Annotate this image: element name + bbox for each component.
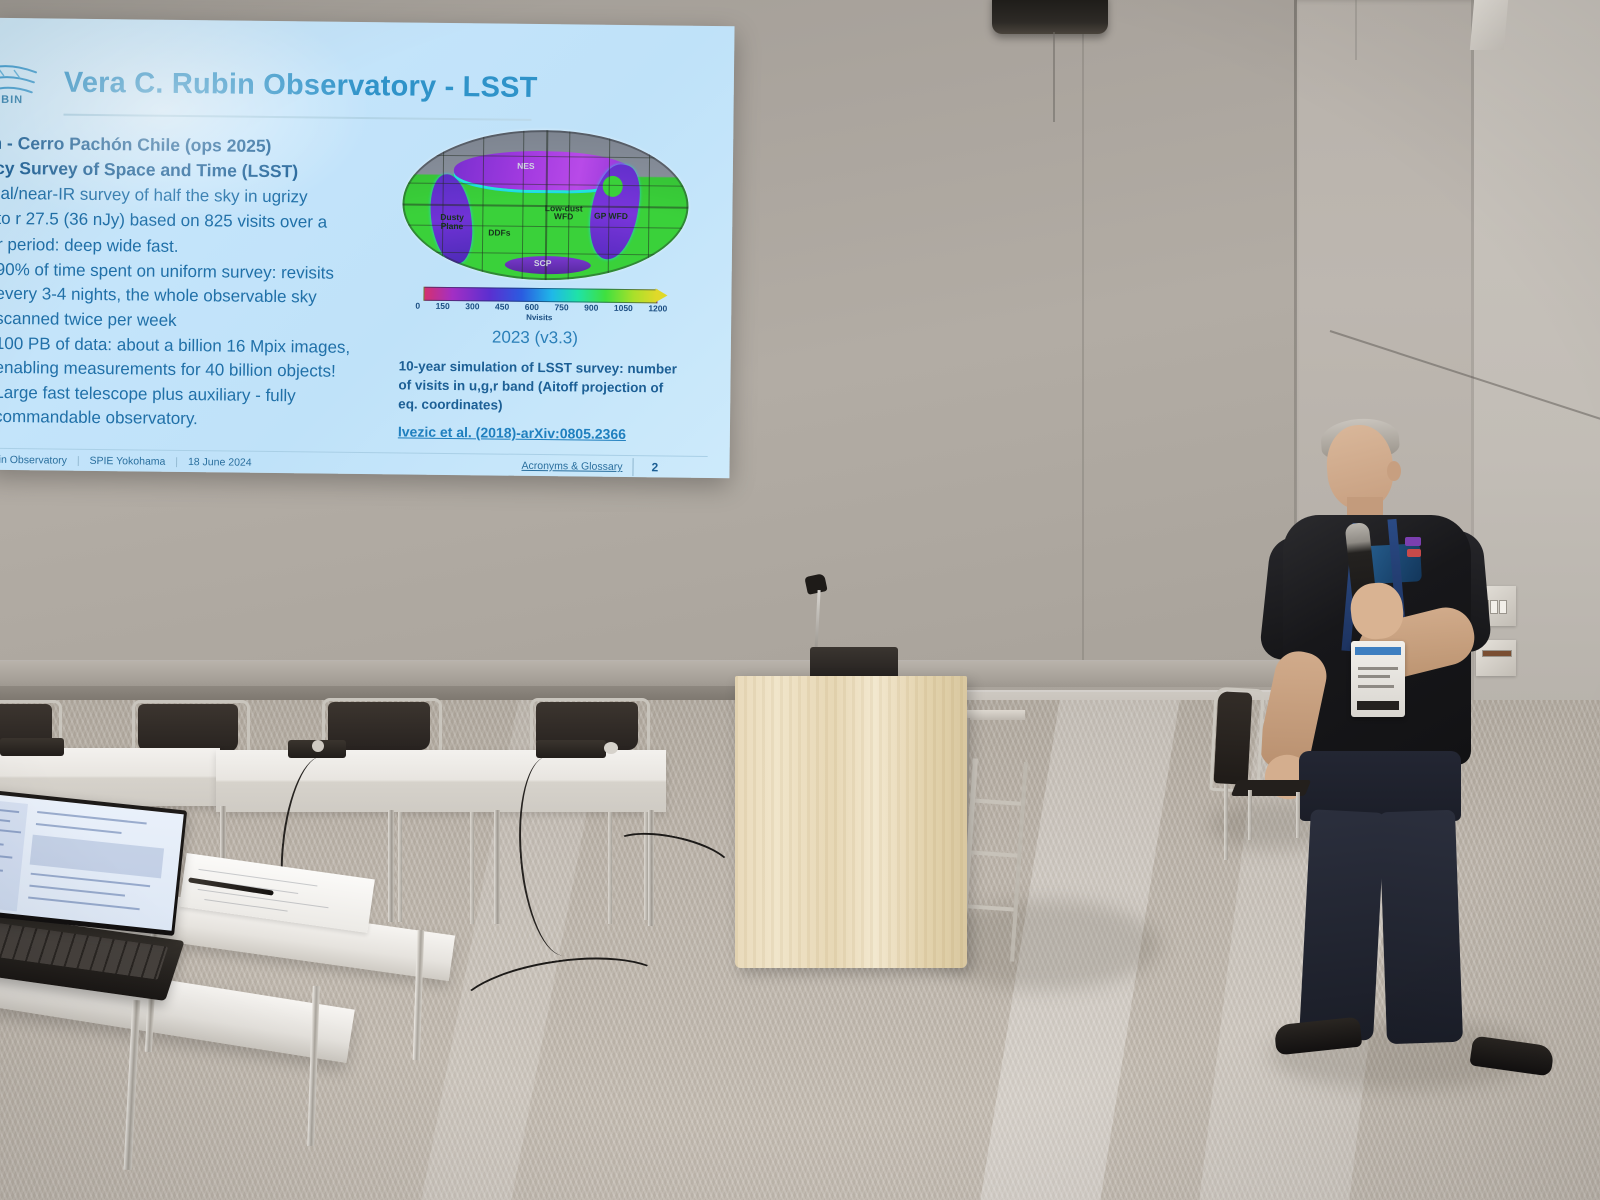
colorbar-tick: 0 <box>415 301 420 311</box>
tshirt-accent <box>1407 549 1421 557</box>
figure-reference-link[interactable]: Ivezic et al. (2018)-arXiv:0805.2366 <box>398 423 626 442</box>
lectern <box>735 676 967 968</box>
chair-back[interactable] <box>138 704 238 752</box>
presenter-right-leg <box>1379 810 1463 1045</box>
badge-text-line <box>1358 685 1394 688</box>
figure-year-label: 2023 (v3.3) <box>395 326 675 349</box>
slide-title: Vera C. Rubin Observatory - LSST <box>64 67 538 105</box>
slide-footer-left: . Rubin Observatory | SPIE Yokohama | 18… <box>0 454 252 469</box>
display-text-line <box>37 811 147 824</box>
stand-rung <box>971 850 1017 857</box>
ceiling-speaker <box>992 0 1108 34</box>
figure-caption: 10-year simulation of LSST survey: numbe… <box>398 356 679 417</box>
display-text-line <box>36 823 122 834</box>
stand-rung <box>968 904 1014 911</box>
slide-subbody-line-5: enabling measurements for 40 billion obj… <box>0 356 363 385</box>
podium-monitor <box>810 647 898 677</box>
colorbar-title: Nvisits <box>423 312 655 324</box>
lectern-wood-grain <box>735 676 967 968</box>
footer-date: 18 June 2024 <box>188 456 252 469</box>
colorbar-tick: 1200 <box>648 303 667 313</box>
colorbar-tick: 750 <box>554 302 568 312</box>
skymap-outline <box>402 128 690 281</box>
stand-rung <box>975 799 1021 806</box>
laptop-screen[interactable] <box>0 788 187 936</box>
display-text-line <box>29 885 125 897</box>
badge-text-line <box>1358 667 1398 670</box>
footer-divider <box>632 458 633 476</box>
wall-vertical-seam-upper <box>1355 0 1357 60</box>
scene-stage: A C. RUBIN RVATORY Vera C. Rubin Observa… <box>0 0 1600 1200</box>
chair-leg <box>398 812 402 922</box>
wall-dado-rail <box>0 660 1310 687</box>
microphone-capsule <box>312 740 324 752</box>
presenter-ear <box>1387 461 1401 481</box>
slide-body-line-2: nds to r 27.5 (36 nJy) based on 825 visi… <box>0 207 364 236</box>
slide-page-number: 2 <box>651 460 658 474</box>
colorbar-tick: 1050 <box>614 303 633 313</box>
footer-separator: | <box>168 456 185 468</box>
desk-microphone[interactable] <box>0 738 64 756</box>
display-panel <box>30 835 164 879</box>
logo-text-line1: A C. RUBIN <box>0 93 23 106</box>
desk-microphone[interactable] <box>536 740 606 758</box>
footer-org: . Rubin Observatory <box>0 454 67 467</box>
colorbar-tick: 150 <box>436 301 450 311</box>
title-underline <box>63 114 531 121</box>
conference-table <box>216 750 666 812</box>
footer-event: SPIE Yokohama <box>89 455 165 468</box>
footer-acronyms-link[interactable]: Acronyms & Glossary <box>521 460 622 473</box>
side-chair-leg <box>1296 792 1300 838</box>
footer-separator: | <box>70 455 87 467</box>
colorbar-tick: 600 <box>525 302 539 312</box>
colorbar-tick: 900 <box>584 303 598 313</box>
presenter <box>1255 415 1555 1065</box>
side-chair-back[interactable] <box>1214 691 1253 785</box>
laptop-display-content <box>0 792 184 931</box>
aitoff-skymap-figure: NES Dusty Plane DDFs Low-dust WFD GP WFD… <box>402 128 690 281</box>
wall-plate-icon <box>1470 0 1508 50</box>
table-leg <box>494 810 500 924</box>
colorbar-extend-arrow <box>655 288 667 302</box>
badge-header-band <box>1355 647 1401 655</box>
colorbar-tick: 450 <box>495 302 509 312</box>
projection-screen: A C. RUBIN RVATORY Vera C. Rubin Observa… <box>0 18 735 478</box>
badge-text-line <box>1358 675 1390 678</box>
conference-badge <box>1351 641 1405 717</box>
side-chair-leg <box>1224 784 1228 860</box>
wall-vertical-seam <box>1082 0 1084 660</box>
slide-body-line-3: -year period: deep wide fast. <box>0 232 364 261</box>
slide-heading-1: ubin - Cerro Pachón Chile (ops 2025) <box>0 131 365 160</box>
chair-leg <box>608 812 612 924</box>
display-text-line <box>28 897 140 911</box>
slide-subbody-line-3: scanned twice per week <box>0 306 363 335</box>
side-chair-leg <box>1248 790 1252 840</box>
slide-figure-column: NES Dusty Plane DDFs Low-dust WFD GP WFD… <box>397 128 697 131</box>
chair-leg <box>470 812 474 924</box>
presenter-left-leg <box>1299 809 1385 1041</box>
speaker-cable <box>1053 32 1055 122</box>
rubin-observatory-logo-icon: A C. RUBIN RVATORY <box>0 53 54 124</box>
presenter-left-shoe <box>1274 1017 1363 1056</box>
tshirt-accent <box>1405 537 1421 546</box>
slide-body-line-1: optical/near-IR survey of half the sky i… <box>0 181 365 210</box>
slide-heading-2: egacy Survey of Space and Time (LSST) <box>0 155 365 184</box>
slide-surface: A C. RUBIN RVATORY Vera C. Rubin Observa… <box>0 18 735 478</box>
microphone-capsule <box>604 742 618 754</box>
slide-subbody-line-7: commandable observatory. <box>0 405 362 434</box>
badge-barcode <box>1357 701 1399 710</box>
slide-body-column: ubin - Cerro Pachón Chile (ops 2025) ega… <box>0 131 365 435</box>
table-leg <box>388 810 394 922</box>
colorbar-tick: 300 <box>465 301 479 311</box>
